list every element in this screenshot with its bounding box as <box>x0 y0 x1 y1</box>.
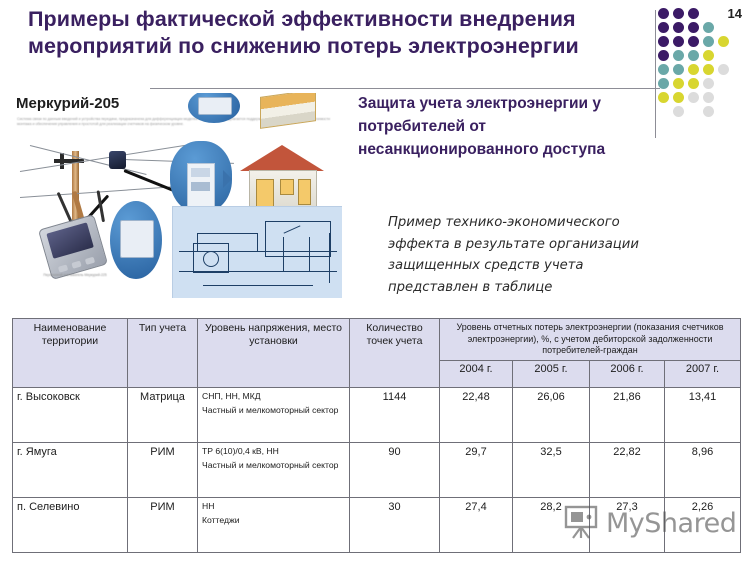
level-sub: Коттеджи <box>202 515 345 527</box>
decorative-dot <box>688 22 699 33</box>
pda-caption: Переносной считыватель Меркурий-225 <box>42 273 108 278</box>
page-number: 14 <box>728 6 742 21</box>
table-header-row-1: Наименование территории Тип учета Уровен… <box>13 319 741 361</box>
cell-loss-2007: 13,41 <box>665 387 741 442</box>
decorative-dot <box>673 92 684 103</box>
pda-screen <box>46 222 94 259</box>
decorative-dot <box>688 8 699 19</box>
decorative-dot <box>703 50 714 61</box>
title-underline <box>150 88 650 89</box>
table-row[interactable]: г. ВысоковскМатрицаСНП, НН, МКДЧастный и… <box>13 387 741 442</box>
decorative-dot <box>658 22 669 33</box>
cell-loss-2007: 2,26 <box>665 497 741 552</box>
house-window <box>256 179 274 207</box>
handheld-reader-icon <box>38 214 108 280</box>
page-title: Примеры фактической эффективности внедре… <box>28 6 628 60</box>
cell-loss-2005: 26,06 <box>513 387 590 442</box>
level-main: ТР 6(10)/0,4 кВ, НН <box>202 446 345 458</box>
cell-points: 1144 <box>350 387 440 442</box>
decorative-dot <box>703 64 714 75</box>
cell-points: 30 <box>350 497 440 552</box>
schematic-line <box>257 233 258 251</box>
cell-loss-2005: 28,2 <box>513 497 590 552</box>
section-headline: Защита учета электроэнергии у потребител… <box>358 92 648 161</box>
decorative-dot <box>673 36 684 47</box>
meter-closeup-ellipse <box>110 201 162 279</box>
th-points: Количество точек учета <box>350 319 440 388</box>
meter-face-icon <box>120 220 153 258</box>
decorative-dot <box>673 64 684 75</box>
decorative-dot <box>688 78 699 89</box>
meter-device-icon <box>109 151 126 169</box>
th-year-2005: 2005 г. <box>513 360 590 387</box>
th-losses: Уровень отчетных потерь электроэнергии (… <box>440 319 741 361</box>
level-main: СНП, НН, МКД <box>202 391 345 403</box>
decorative-dot <box>703 106 714 117</box>
decorative-dot <box>673 106 684 117</box>
th-level: Уровень напряжения, место установки <box>198 319 350 388</box>
decorative-dot-grid <box>658 8 744 126</box>
decorative-dot <box>703 92 714 103</box>
decorative-dot <box>673 78 684 89</box>
cell-points: 90 <box>350 442 440 497</box>
house-roof <box>240 145 324 171</box>
section-note: Пример технико-экономического эффекта в … <box>388 212 650 298</box>
cell-territory: г. Ямуга <box>13 442 128 497</box>
losses-table-wrapper: Наименование территории Тип учета Уровен… <box>12 318 740 553</box>
cell-loss-2007: 8,96 <box>665 442 741 497</box>
schematic-line <box>283 237 284 271</box>
decorative-dot <box>658 78 669 89</box>
decorative-dot <box>673 8 684 19</box>
schematic-meter-circle <box>203 251 219 267</box>
table-row[interactable]: г. ЯмугаРИМТР 6(10)/0,4 кВ, ННЧастный и … <box>13 442 741 497</box>
decorative-dot <box>658 50 669 61</box>
meter-illustration: Меркурий-205 Система связи по данным вве… <box>12 93 342 298</box>
pda-button <box>58 264 68 272</box>
schematic-line <box>309 237 310 271</box>
cell-loss-2004: 27,4 <box>440 497 513 552</box>
level-main: НН <box>202 501 345 513</box>
cell-loss-2005: 32,5 <box>513 442 590 497</box>
pda-button <box>71 261 81 269</box>
device-face-icon <box>198 97 231 115</box>
table-head: Наименование территории Тип учета Уровен… <box>13 319 741 388</box>
decorative-dot <box>658 64 669 75</box>
pole-insulator-icon <box>60 153 64 169</box>
decorative-dot <box>703 78 714 89</box>
cell-loss-2004: 29,7 <box>440 442 513 497</box>
th-year-2004: 2004 г. <box>440 360 513 387</box>
schematic-line <box>329 233 330 283</box>
cell-loss-2004: 22,48 <box>440 387 513 442</box>
decorative-dot <box>658 8 669 19</box>
wiring-schematic <box>172 206 342 298</box>
th-type: Тип учета <box>128 319 198 388</box>
level-sub: Частный и мелкомоторный сектор <box>202 460 345 472</box>
th-year-2006: 2006 г. <box>590 360 665 387</box>
house-window <box>298 179 311 205</box>
cell-level: СНП, НН, МКДЧастный и мелкомоторный сект… <box>198 387 350 442</box>
decorative-dot <box>658 36 669 47</box>
cell-type: РИМ <box>128 497 198 552</box>
schematic-line <box>203 285 313 286</box>
table-body: г. ВысоковскМатрицаСНП, НН, МКДЧастный и… <box>13 387 741 552</box>
cell-loss-2006: 27,3 <box>590 497 665 552</box>
meter-stack-icon <box>187 163 215 207</box>
decorative-dot <box>703 36 714 47</box>
cell-type: Матрица <box>128 387 198 442</box>
cell-territory: п. Селевино <box>13 497 128 552</box>
decorative-dot <box>673 50 684 61</box>
decorative-dot <box>703 22 714 33</box>
table-row[interactable]: п. СелевиноРИМННКоттеджи3027,428,227,32,… <box>13 497 741 552</box>
decorative-dot <box>688 92 699 103</box>
cell-loss-2006: 22,82 <box>590 442 665 497</box>
cell-level: ННКоттеджи <box>198 497 350 552</box>
decorative-dot <box>688 36 699 47</box>
cell-type: РИМ <box>128 442 198 497</box>
schematic-line <box>197 233 257 234</box>
decorative-dot <box>718 36 729 47</box>
meter-cabinet-callout <box>170 141 232 213</box>
level-sub: Частный и мелкомоторный сектор <box>202 405 345 417</box>
decorative-dot <box>673 22 684 33</box>
slide-root: Примеры фактической эффективности внедре… <box>0 0 750 562</box>
pda-button <box>85 257 95 265</box>
decorative-dot <box>718 64 729 75</box>
decorative-dot <box>658 92 669 103</box>
decorative-dot <box>688 50 699 61</box>
illustration-title: Меркурий-205 <box>16 95 119 112</box>
house-window <box>280 179 294 195</box>
cell-territory: г. Высоковск <box>13 387 128 442</box>
cell-level: ТР 6(10)/0,4 кВ, ННЧастный и мелкомоторн… <box>198 442 350 497</box>
losses-table: Наименование территории Тип учета Уровен… <box>12 318 741 553</box>
th-year-2007: 2007 г. <box>665 360 741 387</box>
th-territory: Наименование территории <box>13 319 128 388</box>
decorative-dot <box>688 64 699 75</box>
vertical-divider <box>655 10 656 138</box>
cell-loss-2006: 21,86 <box>590 387 665 442</box>
